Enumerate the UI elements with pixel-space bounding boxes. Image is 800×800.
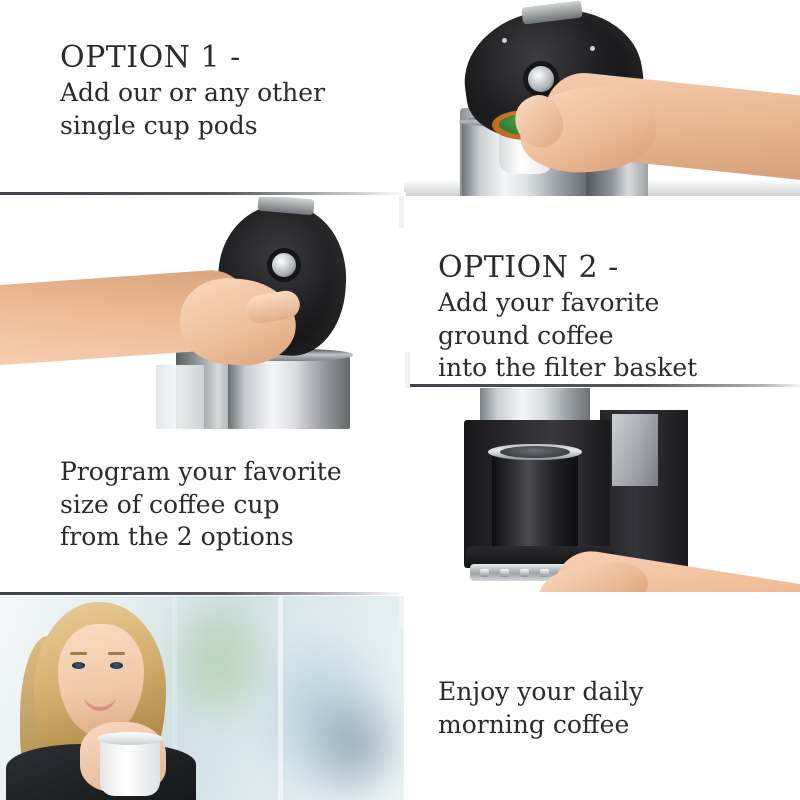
enjoy-line-1: Enjoy your daily	[438, 676, 643, 709]
steel-tumbler	[228, 355, 350, 429]
water-tank	[156, 365, 204, 429]
divider-rule-bottom	[0, 592, 404, 595]
water-tank	[612, 414, 658, 486]
power-button	[540, 569, 549, 577]
infographic-board: OPTION 1 - Add our or any other single c…	[0, 0, 800, 800]
travel-mug	[492, 450, 578, 560]
option-2-heading: OPTION 2 -	[438, 248, 697, 287]
caption-enjoy: Enjoy your daily morning coffee	[438, 676, 643, 741]
caption-option-2: OPTION 2 - Add your favorite ground coff…	[438, 248, 697, 385]
eye	[72, 662, 85, 669]
photo-control-panel	[404, 388, 800, 592]
divider-rule-top	[0, 192, 404, 195]
photo-woman-mug	[0, 596, 404, 800]
option-1-line-1: Add our or any other	[60, 77, 325, 110]
divider-step-shade-bottom	[399, 596, 404, 630]
option-2-line-3: into the filter basket	[438, 352, 697, 385]
program-line-2: size of coffee cup	[60, 489, 342, 522]
program-line-1: Program your favorite	[60, 456, 342, 489]
window-frame-line	[278, 596, 283, 800]
lid-screw-icon	[590, 46, 595, 51]
eye	[110, 662, 123, 669]
needle-port	[272, 253, 296, 277]
caption-option-1: OPTION 1 - Add our or any other single c…	[60, 38, 325, 142]
photo-pod-insert	[404, 0, 800, 196]
brew-button	[520, 569, 529, 577]
background-depth-blur	[300, 686, 404, 800]
option-2-line-1: Add your favorite	[438, 287, 697, 320]
white-mug-rim	[97, 732, 163, 745]
option-1-heading: OPTION 1 -	[60, 38, 325, 77]
photo-filter-basket	[0, 197, 404, 429]
caption-program: Program your favorite size of coffee cup…	[60, 456, 342, 554]
program-line-3: from the 2 options	[60, 521, 342, 554]
travel-mug-opening	[500, 446, 570, 458]
white-mug	[100, 736, 160, 796]
lid-screw-icon	[502, 38, 507, 43]
needle-port	[528, 66, 554, 92]
cup-size-button-small	[480, 569, 489, 577]
cup-size-button-large	[500, 569, 509, 577]
eyebrow	[70, 652, 87, 655]
divider-step-shade-middle	[405, 352, 410, 388]
enjoy-line-2: morning coffee	[438, 709, 643, 742]
option-1-line-2: single cup pods	[60, 110, 325, 143]
option-2-line-2: ground coffee	[438, 320, 697, 353]
eyebrow	[108, 652, 125, 655]
divider-step-shade-top	[399, 196, 404, 228]
